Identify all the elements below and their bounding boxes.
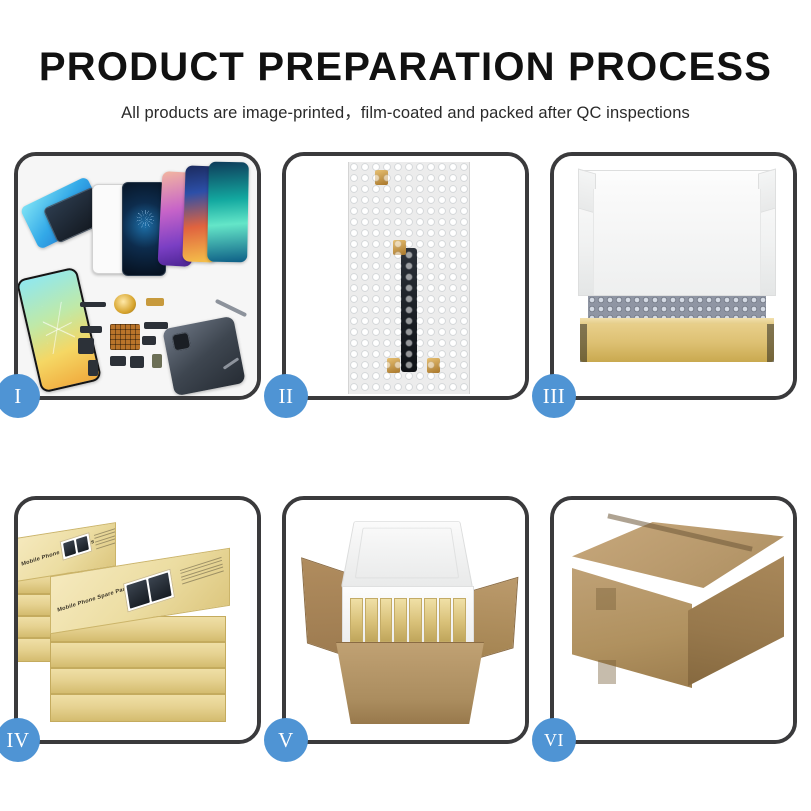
- phone-parts-collage-photo: [18, 156, 257, 396]
- teal-phone-graphic: [207, 162, 249, 263]
- step-badge-4: IV: [0, 718, 40, 762]
- spare-part-graphic: [78, 338, 94, 354]
- connector-graphic: [387, 358, 400, 373]
- tray-edge-left-graphic: [580, 324, 587, 362]
- gold-box-tray-graphic: [580, 324, 774, 362]
- spare-part-graphic: [142, 336, 156, 345]
- flex-cable-graphic: [401, 248, 417, 372]
- step-badge-3: III: [532, 374, 576, 418]
- stacked-gold-boxes-photo: Mobile Phone Spare Parts Mobile Phone Sp…: [18, 500, 257, 740]
- spare-part-graphic: [152, 354, 162, 368]
- box-window-graphic: [60, 532, 93, 561]
- gold-box-stack-graphic: Mobile Phone Spare Parts Mobile Phone Sp…: [18, 500, 257, 740]
- step-badge-1: I: [0, 374, 40, 418]
- box-window-graphic: [123, 569, 175, 613]
- box-label-text: Mobile Phone Spare Parts: [57, 585, 131, 614]
- chip-grid-graphic: [110, 324, 140, 350]
- spare-part-graphic: [130, 356, 144, 368]
- gold-box-graphic: [50, 642, 226, 668]
- header: PRODUCT PREPARATION PROCESS All products…: [0, 46, 811, 123]
- open-carton-with-foam-photo: [286, 500, 525, 740]
- foam-box-lid-graphic: [341, 521, 473, 588]
- white-box-lid-graphic: [578, 170, 776, 296]
- process-step-card-2: II Screen wrapped in bubble wrap: [282, 152, 529, 400]
- carton-front-face-graphic: [572, 568, 692, 688]
- step-caption-3: Bubble-wrapped items placed in gold inne…: [554, 156, 555, 157]
- cracked-glass-graphic: [136, 210, 154, 228]
- bubble-wrap-sleeve-graphic: [348, 162, 470, 394]
- bubble-wrapped-screen-photo: [286, 156, 525, 396]
- gold-box-graphic: [50, 694, 226, 722]
- spare-part-graphic: [146, 298, 164, 306]
- connector-graphic: [393, 240, 406, 255]
- box-spec-lines-graphic: [94, 522, 116, 551]
- process-step-card-4: Mobile Phone Spare Parts Mobile Phone Sp…: [14, 496, 261, 744]
- connector-graphic: [427, 358, 440, 373]
- step-caption-6: Sealed shipping carton: [554, 500, 555, 501]
- process-steps-grid: I Mobile phone LCD screens, displays and…: [14, 152, 797, 744]
- spare-part-graphic: [110, 356, 126, 366]
- carton-tape-graphic: [596, 588, 616, 610]
- box-spec-lines-graphic: [180, 557, 224, 586]
- process-step-card-1: I Mobile phone LCD screens, displays and…: [14, 152, 261, 400]
- open-gold-box-photo: [554, 156, 793, 396]
- process-step-card-3: III Bubble-wrapped items placed in gold …: [550, 152, 797, 400]
- lid-inner-graphic: [593, 189, 761, 295]
- spare-part-graphic: [88, 360, 98, 376]
- connector-graphic: [375, 170, 388, 185]
- page-title: PRODUCT PREPARATION PROCESS: [0, 46, 811, 88]
- process-step-card-5: V Boxes loaded into foam-lined carton: [282, 496, 529, 744]
- process-step-card-6: VI Sealed shipping carton: [550, 496, 797, 744]
- gold-box-graphic: [50, 668, 226, 694]
- page-subtitle: All products are image-printed，film-coat…: [0, 99, 811, 123]
- step-badge-2: II: [264, 374, 308, 418]
- tray-edge-right-graphic: [767, 324, 774, 362]
- sealed-carton-photo: [554, 500, 793, 740]
- step-badge-6: VI: [532, 718, 576, 762]
- carton-body-graphic: [336, 642, 484, 724]
- step-caption-5: Boxes loaded into foam-lined carton: [286, 500, 287, 501]
- spare-part-graphic: [80, 302, 106, 307]
- spare-part-graphic: [144, 322, 168, 329]
- carton-tape-graphic: [598, 660, 616, 684]
- step-caption-2: Screen wrapped in bubble wrap: [286, 156, 287, 157]
- copper-coil-graphic: [114, 294, 136, 314]
- tweezers-graphic: [215, 299, 247, 317]
- step-badge-5: V: [264, 718, 308, 762]
- gold-boxes-inside-graphic: [350, 598, 466, 642]
- product-preparation-infographic: PRODUCT PREPARATION PROCESS All products…: [0, 0, 811, 811]
- spare-part-graphic: [80, 326, 102, 333]
- phone-housing-graphic: [162, 316, 246, 396]
- step-caption-1: Mobile phone LCD screens, displays and s…: [18, 156, 19, 157]
